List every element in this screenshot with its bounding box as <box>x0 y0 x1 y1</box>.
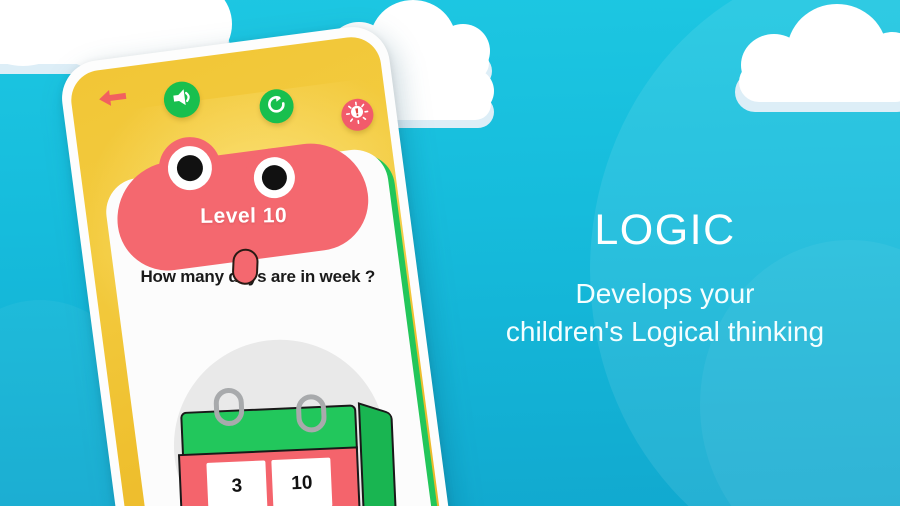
phone-mockup: 1 How many days are in week ? <box>57 22 457 506</box>
answer-option[interactable]: 10 <box>271 458 332 506</box>
promo-copy: LOGIC Develops your children's Logical t… <box>430 208 900 351</box>
monster-tongue <box>232 248 260 285</box>
eye-white <box>251 154 297 200</box>
calendar-illustration: 3 10 5 7 <box>174 389 394 506</box>
eye-pupil <box>260 163 288 191</box>
level-label: Level 10 <box>200 204 287 229</box>
subheadline-line-2: children's Logical thinking <box>430 313 900 351</box>
back-arrow-icon[interactable] <box>94 83 131 113</box>
promo-banner: 1 How many days are in week ? <box>0 0 900 506</box>
answer-option[interactable]: 3 <box>206 460 267 506</box>
game-screen: 1 How many days are in week ? <box>68 34 448 506</box>
calendar-ring-icon <box>296 394 328 433</box>
calendar-ring-icon <box>213 387 245 426</box>
calendar-side-panel <box>358 402 399 506</box>
sound-on-icon <box>169 86 194 114</box>
subheadline-line-1: Develops your <box>430 275 900 313</box>
headline: LOGIC <box>430 208 900 253</box>
cloud-icon <box>735 12 900 124</box>
answer-options-grid: 3 10 5 7 <box>206 458 334 506</box>
sound-button[interactable] <box>162 79 202 119</box>
eye-pupil <box>175 154 204 183</box>
eye-white <box>165 143 214 192</box>
refresh-icon <box>264 91 289 121</box>
subheadline: Develops your children's Logical thinkin… <box>430 275 900 351</box>
restart-button[interactable] <box>258 87 296 125</box>
